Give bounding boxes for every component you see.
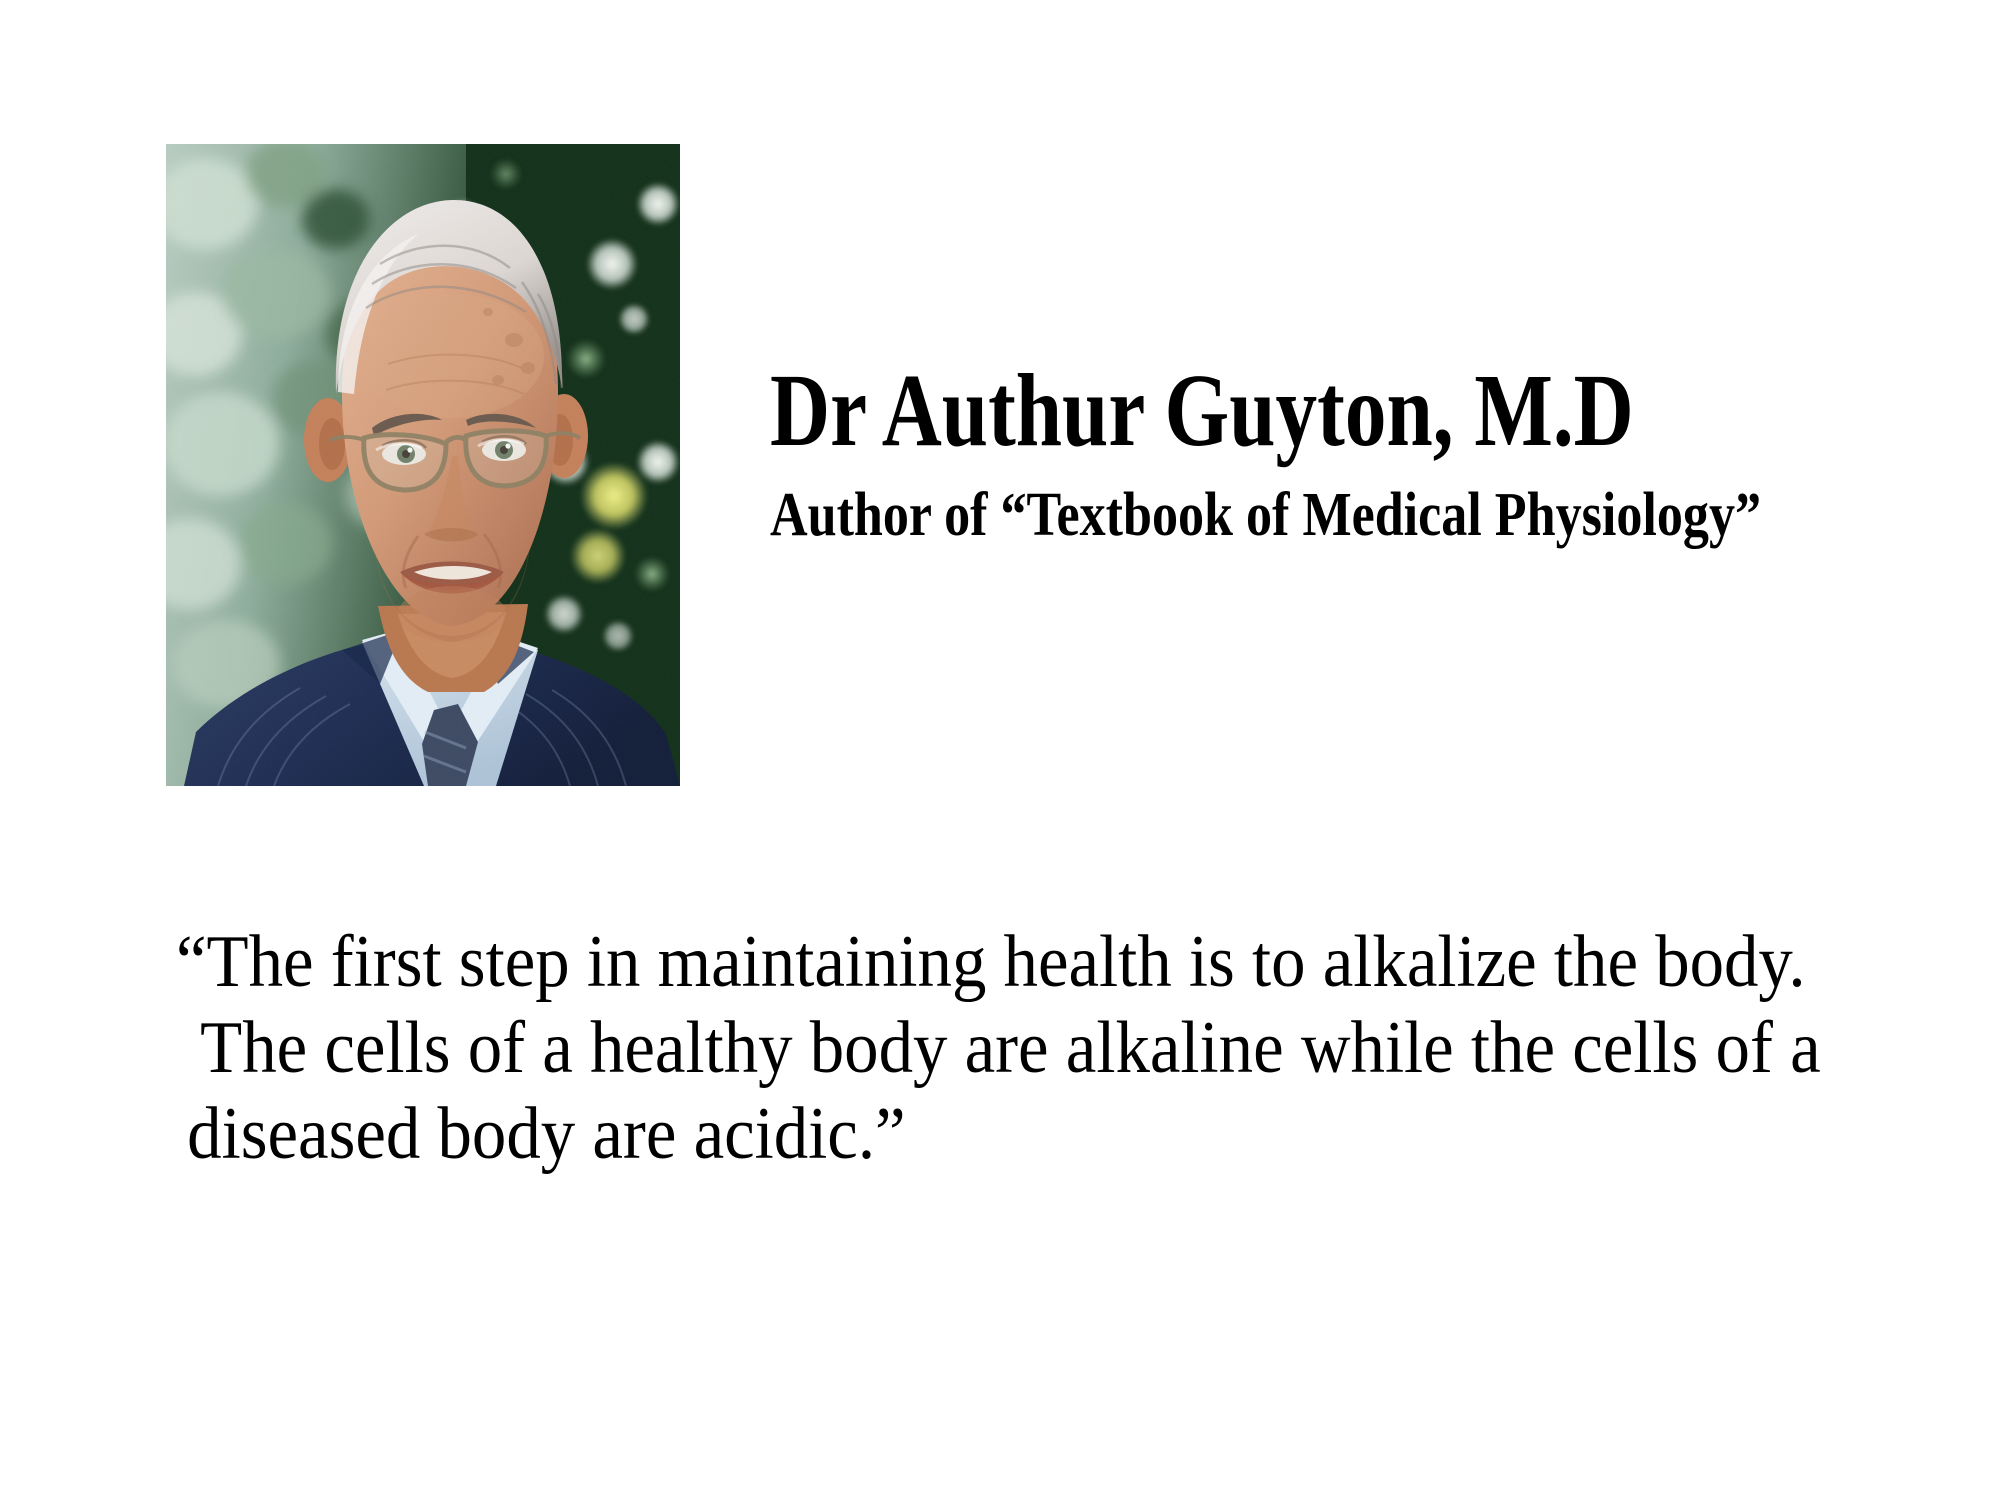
portrait-photo — [166, 144, 680, 786]
subtitle-author-credit: Author of “Textbook of Medical Physiolog… — [770, 481, 1711, 550]
quotation-block: “The first step in maintaining health is… — [176, 920, 1936, 1177]
portrait-illustration — [166, 144, 680, 786]
slide-canvas: Dr Authur Guyton, M.D Author of “Textboo… — [0, 0, 2000, 1498]
quote-line-1: “The first step in maintaining health is… — [176, 920, 1813, 1006]
heading-block: Dr Authur Guyton, M.D Author of “Textboo… — [770, 355, 1890, 551]
quote-line-3: diseased body are acidic.” — [176, 1092, 1813, 1178]
quote-line-2: The cells of a healthy body are alkaline… — [176, 1006, 1813, 1092]
page-title: Dr Authur Guyton, M.D — [770, 355, 1666, 467]
